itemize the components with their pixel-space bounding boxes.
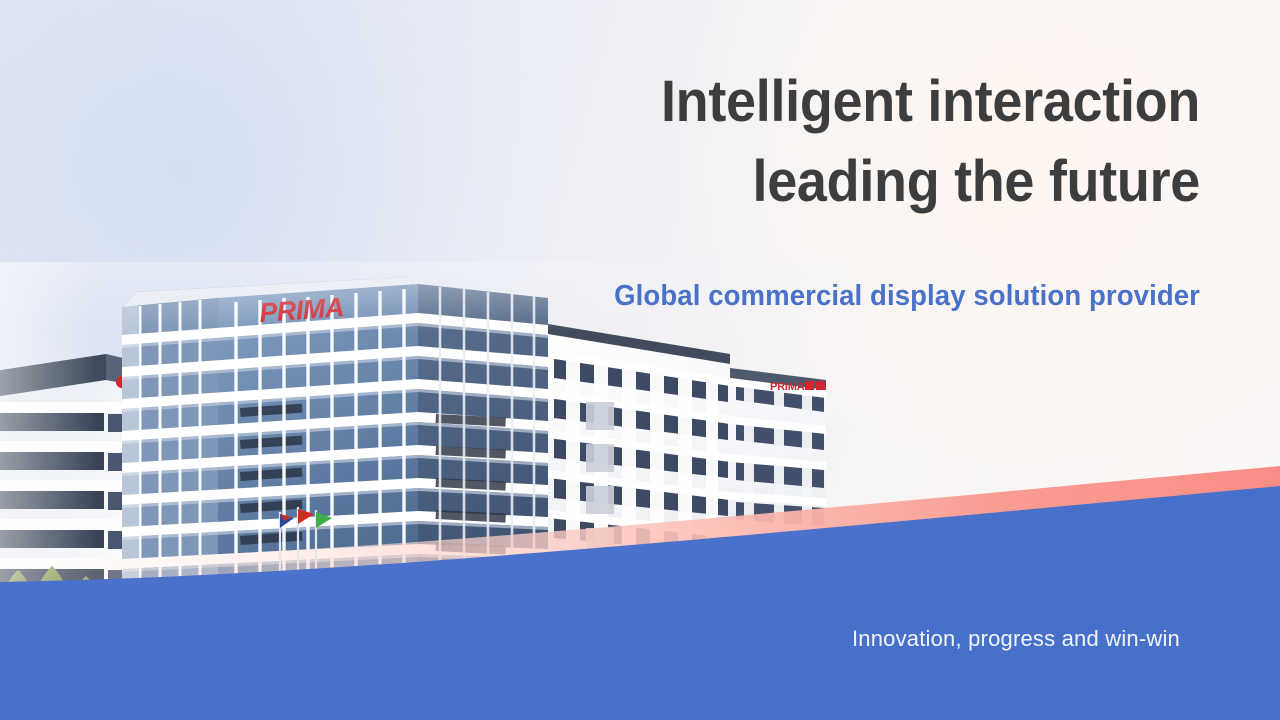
right-annex-building: PRIMA [548,324,826,602]
headline-line-2: leading the future [363,142,1200,222]
headline-line-1: Intelligent interaction [363,62,1200,142]
tagline: Innovation, progress and win-win [300,626,1180,652]
subtitle: Global commercial display solution provi… [345,280,1200,313]
slide-canvas: PRIMA [0,0,1280,720]
svg-text:PRIMA: PRIMA [770,381,805,393]
prima-headquarters-building-image: PRIMA [0,262,848,662]
page-title: Intelligent interaction leading the futu… [363,62,1200,222]
